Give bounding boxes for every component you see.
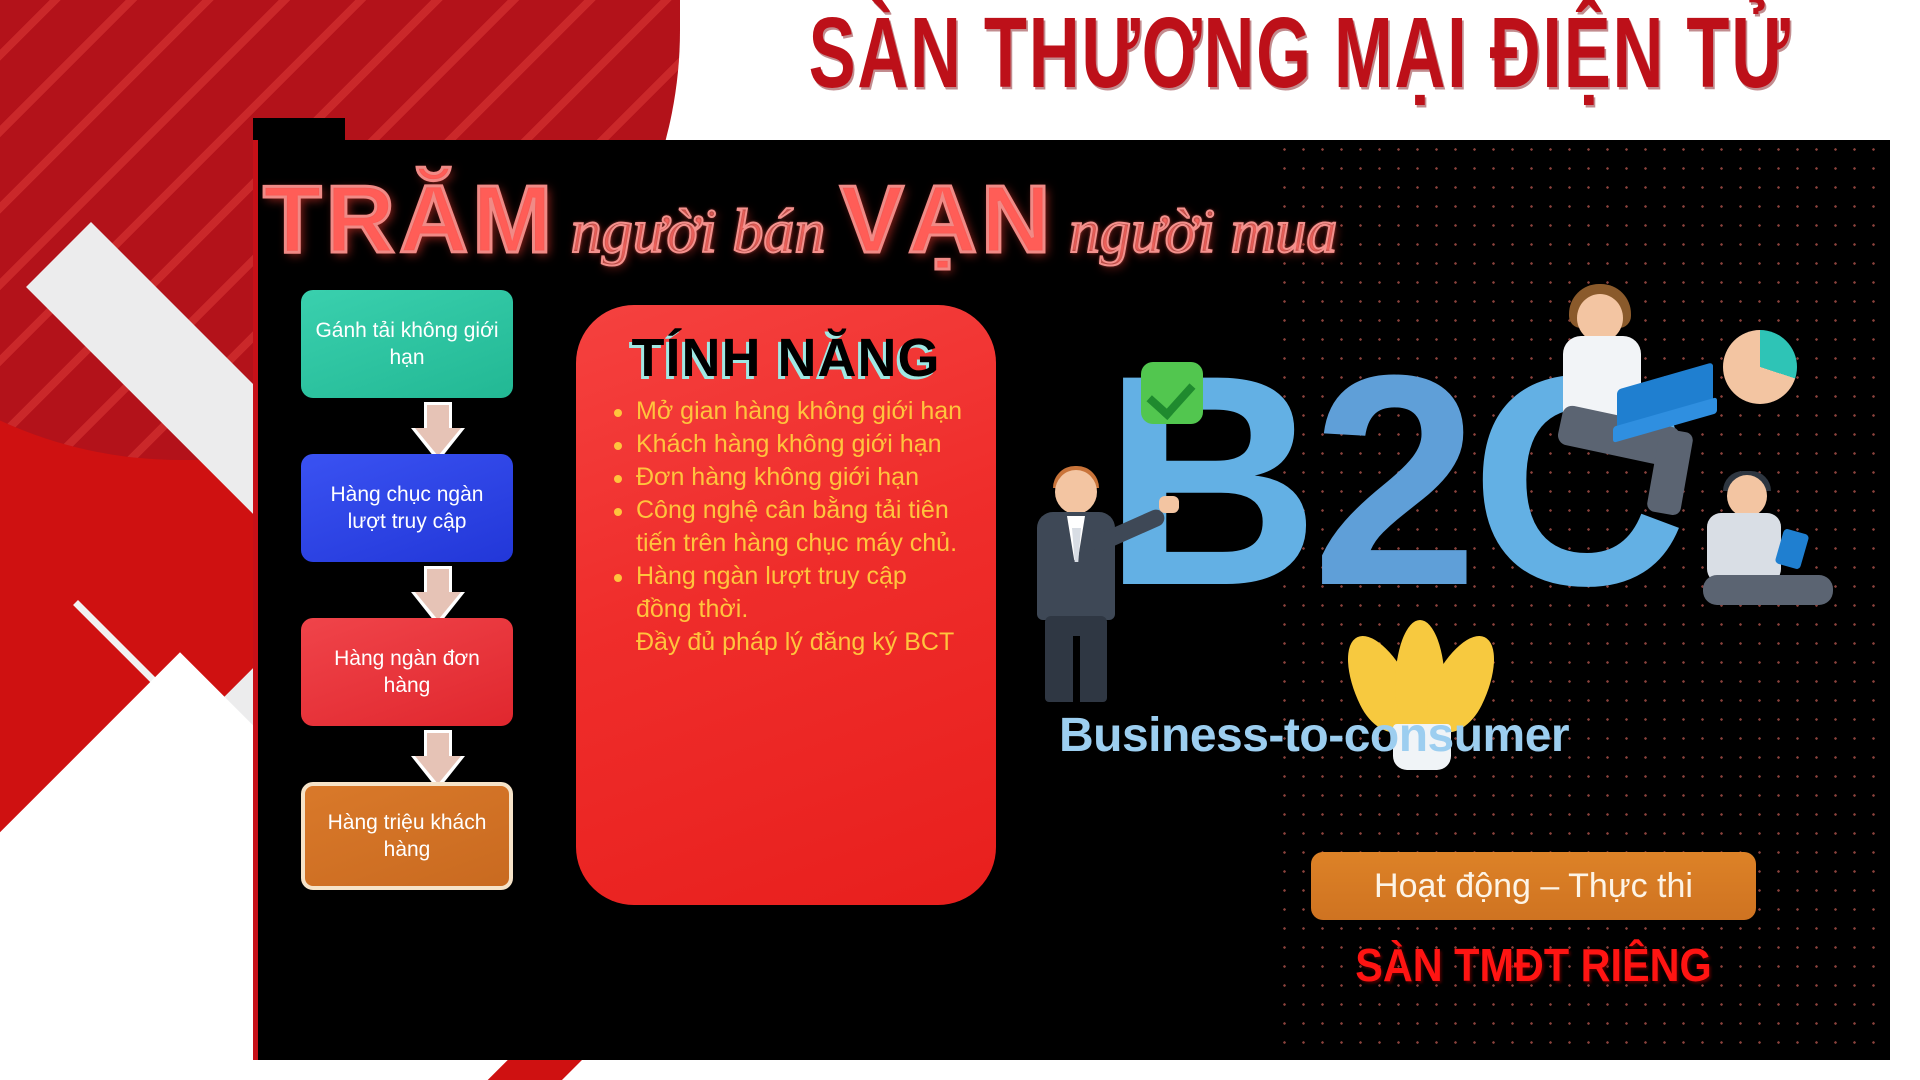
headline: TRĂM người bán VẠN người mua bbox=[263, 165, 1883, 295]
feature-item: Đơn hàng không giới hạn bbox=[610, 461, 972, 494]
headline-word-nguoi-mua: người mua bbox=[1059, 197, 1347, 268]
page-title: SÀN THƯƠNG MẠI ĐIỆN TỬ bbox=[784, 0, 1816, 117]
green-checkmark-icon bbox=[1141, 362, 1203, 424]
headline-word-tram: TRĂM bbox=[263, 165, 556, 275]
flow-step-visits[interactable]: Hàng chục ngàn lượt truy cập bbox=[301, 454, 513, 562]
features-card: TÍNH NĂNG Mở gian hàng không giới hạn Kh… bbox=[576, 305, 996, 905]
feature-item: Đầy đủ pháp lý đăng ký BCT bbox=[610, 626, 972, 659]
feature-item: Công nghệ cân bằng tải tiên bbox=[610, 494, 972, 527]
footer-tagline: SÀN TMĐT RIÊNG bbox=[1333, 938, 1734, 992]
b2c-letter-2: 2 bbox=[1312, 312, 1471, 648]
flow-chart: Gánh tải không giới hạn Hàng chục ngàn l… bbox=[283, 290, 543, 930]
feature-item: Khách hàng không giới hạn bbox=[610, 428, 972, 461]
b2c-subtitle: Business-to-consumer bbox=[1059, 708, 1859, 763]
cta-button[interactable]: Hoạt động – Thực thi bbox=[1311, 852, 1756, 920]
cta-button-label: Hoạt động – Thực thi bbox=[1374, 867, 1693, 906]
flow-step-orders-label: Hàng ngàn đơn hàng bbox=[311, 645, 503, 699]
page-title-bar: SÀN THƯƠNG MẠI ĐIỆN TỬ bbox=[700, 2, 1900, 112]
feature-item: tiến trên hàng chục máy chủ. bbox=[610, 527, 972, 560]
slide-left-red-edge bbox=[253, 140, 258, 1060]
flow-step-orders[interactable]: Hàng ngàn đơn hàng bbox=[301, 618, 513, 726]
flow-step-capacity[interactable]: Gánh tải không giới hạn bbox=[301, 290, 513, 398]
flow-step-customers-label: Hàng triệu khách hàng bbox=[315, 809, 499, 863]
slide-canvas: SÀN THƯƠNG MẠI ĐIỆN TỬ TRĂM người bán VẠ… bbox=[0, 0, 1920, 1080]
features-heading: TÍNH NĂNG bbox=[596, 327, 976, 389]
businessman-figure bbox=[1023, 470, 1143, 700]
feature-item: Mở gian hàng không giới hạn bbox=[610, 395, 972, 428]
headline-word-van: VẠN bbox=[840, 165, 1055, 275]
feature-item: Hàng ngàn lượt truy cập bbox=[610, 560, 972, 593]
flow-step-customers[interactable]: Hàng triệu khách hàng bbox=[301, 782, 513, 890]
pie-chart-icon bbox=[1723, 330, 1797, 404]
main-slide: TRĂM người bán VẠN người mua Gánh tải kh… bbox=[253, 140, 1890, 1060]
flow-step-visits-label: Hàng chục ngàn lượt truy cập bbox=[311, 481, 503, 535]
b2c-illustration: B2C Business-to-consu bbox=[1043, 290, 1873, 1050]
seated-person-figure bbox=[1683, 475, 1873, 665]
white-thin-diagonal-line bbox=[73, 600, 241, 768]
feature-item: đồng thời. bbox=[610, 593, 972, 626]
headline-word-nguoi-ban: người bán bbox=[561, 197, 836, 268]
flow-step-capacity-label: Gánh tải không giới hạn bbox=[311, 317, 503, 371]
features-list: Mở gian hàng không giới hạn Khách hàng k… bbox=[596, 395, 976, 659]
